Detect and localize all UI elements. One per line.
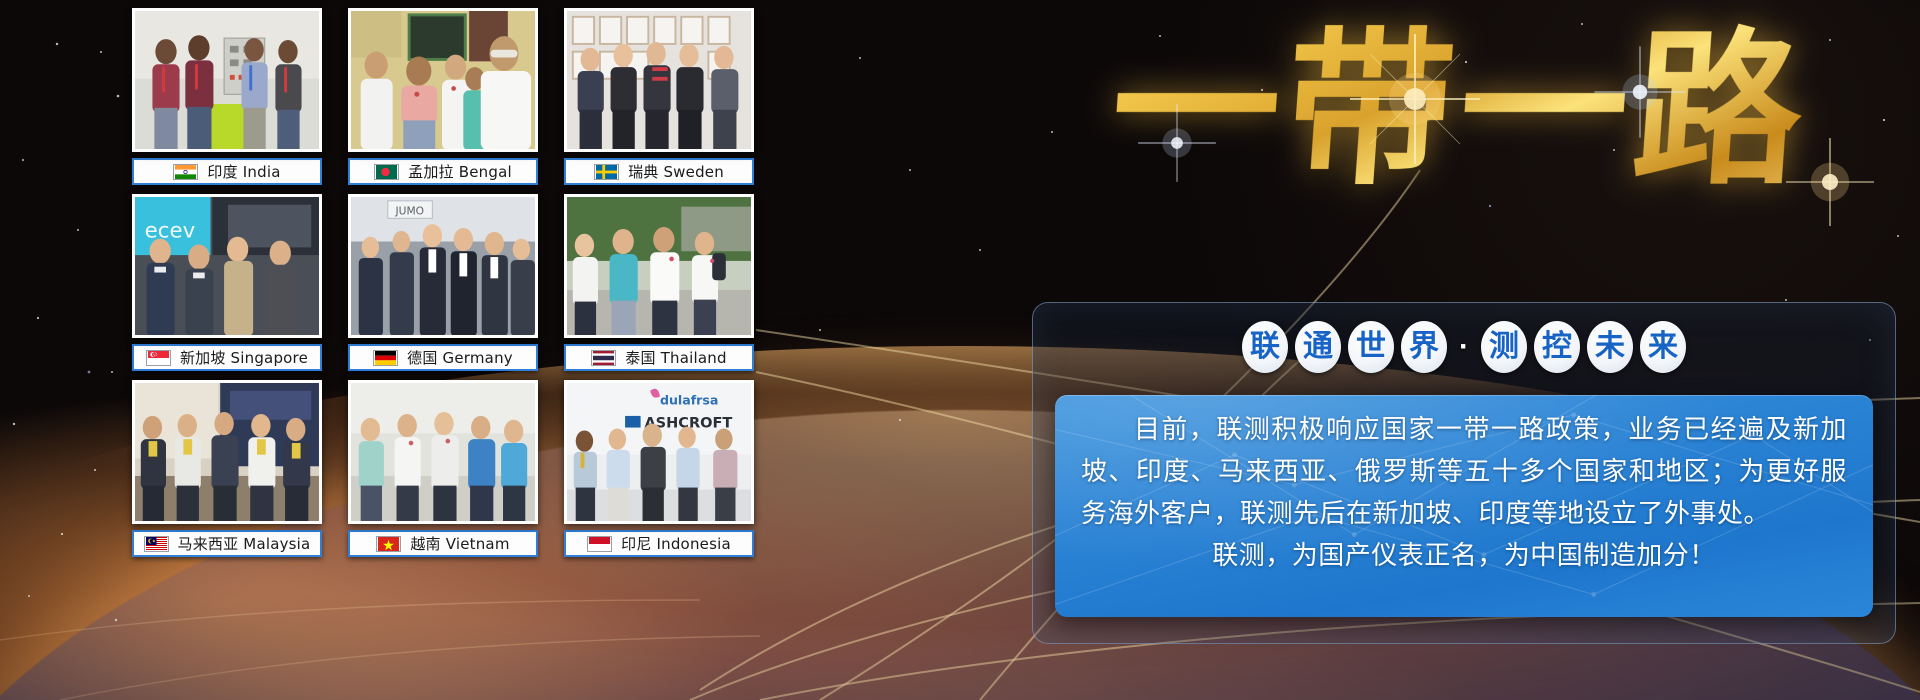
photo-india-image <box>135 11 319 150</box>
photo-germany-image: JUMO <box>351 197 535 336</box>
caption-vietnam: 越南 Vietnam <box>348 530 538 557</box>
hero-title-text: 一带一路 <box>1017 4 1904 214</box>
flag-singapore-icon <box>146 350 171 366</box>
slogan-char: 测 <box>1481 321 1527 373</box>
photo-sweden-image <box>567 11 751 150</box>
photo-vietnam-image <box>351 383 535 522</box>
caption-label: 瑞典 Sweden <box>628 161 724 182</box>
photo-singapore-image: ecev <box>135 197 319 336</box>
slogan-char: 世 <box>1348 321 1394 373</box>
gallery-cell-sweden[interactable]: 瑞典 Sweden <box>564 8 754 192</box>
gallery-cell-indonesia[interactable]: dulafrsa ASHCROFT <box>564 380 754 564</box>
photo-malaysia[interactable] <box>132 380 322 524</box>
caption-india: 印度 India <box>132 158 322 185</box>
gallery-cell-thailand[interactable]: 泰国 Thailand <box>564 194 754 378</box>
gallery-cell-singapore[interactable]: ecev 新加坡 Singapore <box>132 194 322 378</box>
photo-thailand-image <box>567 197 751 336</box>
description-paragraph: 目前，联测积极响应国家一带一路政策，业务已经遍及新加坡、印度、马来西亚、俄罗斯等… <box>1081 409 1847 577</box>
slogan-separator-dot: · <box>1454 321 1474 373</box>
flag-germany-icon <box>373 350 398 366</box>
gallery-cell-germany[interactable]: JUMO 德国 Germany <box>348 194 538 378</box>
caption-singapore: 新加坡 Singapore <box>132 344 322 371</box>
flag-thailand-icon <box>591 350 616 366</box>
hero-title-belt-and-road: 一带一路 <box>1024 4 1896 214</box>
caption-label: 越南 Vietnam <box>410 533 509 554</box>
caption-germany: 德国 Germany <box>348 344 538 371</box>
flag-malaysia-icon <box>144 536 169 552</box>
caption-thailand: 泰国 Thailand <box>564 344 754 371</box>
caption-label: 印尼 Indonesia <box>621 533 731 554</box>
slogan-char: 未 <box>1587 321 1633 373</box>
caption-indonesia: 印尼 Indonesia <box>564 530 754 557</box>
flag-bangladesh-icon <box>374 164 399 180</box>
company-slogan: 联 通 世 界 · 测 控 未 来 <box>1033 321 1895 373</box>
caption-label: 马来西亚 Malaysia <box>178 533 311 554</box>
gallery-cell-india[interactable]: 印度 India <box>132 8 322 192</box>
caption-label: 新加坡 Singapore <box>180 347 308 368</box>
caption-label: 泰国 Thailand <box>625 347 726 368</box>
slogan-char: 来 <box>1640 321 1686 373</box>
svg-text:dulafrsa: dulafrsa <box>660 392 718 407</box>
caption-malaysia: 马来西亚 Malaysia <box>132 530 322 557</box>
gallery-cell-bengal[interactable]: 孟加拉 Bengal <box>348 8 538 192</box>
photo-germany[interactable]: JUMO <box>348 194 538 338</box>
gallery-cell-malaysia[interactable]: 马来西亚 Malaysia <box>132 380 322 564</box>
description-line-4: 在新加坡、印度等地设立了外事处。 <box>1346 499 1770 529</box>
country-photo-gallery: 印度 India <box>132 8 754 564</box>
photo-singapore[interactable]: ecev <box>132 194 322 338</box>
flag-vietnam-icon <box>376 536 401 552</box>
slogan-char: 通 <box>1295 321 1341 373</box>
flag-sweden-icon <box>594 164 619 180</box>
caption-label: 印度 India <box>207 161 280 182</box>
description-line-5: 联测，为国产仪表正名，为中国制造加分！ <box>1081 535 1847 577</box>
gallery-cell-vietnam[interactable]: 越南 Vietnam <box>348 380 538 564</box>
photo-sweden[interactable] <box>564 8 754 152</box>
photo-thailand[interactable] <box>564 194 754 338</box>
banner-stage: 印度 India <box>0 0 1920 700</box>
photo-vietnam[interactable] <box>348 380 538 524</box>
svg-text:ecev: ecev <box>145 219 196 244</box>
photo-bengal-image <box>351 11 535 150</box>
slogan-char: 界 <box>1401 321 1447 373</box>
flag-indonesia-icon <box>587 536 612 552</box>
svg-text:JUMO: JUMO <box>395 204 424 217</box>
slogan-char: 联 <box>1242 321 1288 373</box>
caption-sweden: 瑞典 Sweden <box>564 158 754 185</box>
photo-india[interactable] <box>132 8 322 152</box>
photo-indonesia[interactable]: dulafrsa ASHCROFT <box>564 380 754 524</box>
photo-indonesia-image: dulafrsa ASHCROFT <box>567 383 751 522</box>
flag-india-icon <box>173 164 198 180</box>
caption-label: 孟加拉 Bengal <box>408 161 512 182</box>
caption-bengal: 孟加拉 Bengal <box>348 158 538 185</box>
photo-malaysia-image <box>135 383 319 522</box>
caption-label: 德国 Germany <box>407 347 513 368</box>
description-card: 目前，联测积极响应国家一带一路政策，业务已经遍及新加坡、印度、马来西亚、俄罗斯等… <box>1055 395 1873 617</box>
slogan-char: 控 <box>1534 321 1580 373</box>
info-panel: 联 通 世 界 · 测 控 未 来 <box>1032 302 1896 644</box>
description-line-1: 目前，联测积极响应国家一带一路政策，业务 <box>1133 415 1683 445</box>
photo-bengal[interactable] <box>348 8 538 152</box>
